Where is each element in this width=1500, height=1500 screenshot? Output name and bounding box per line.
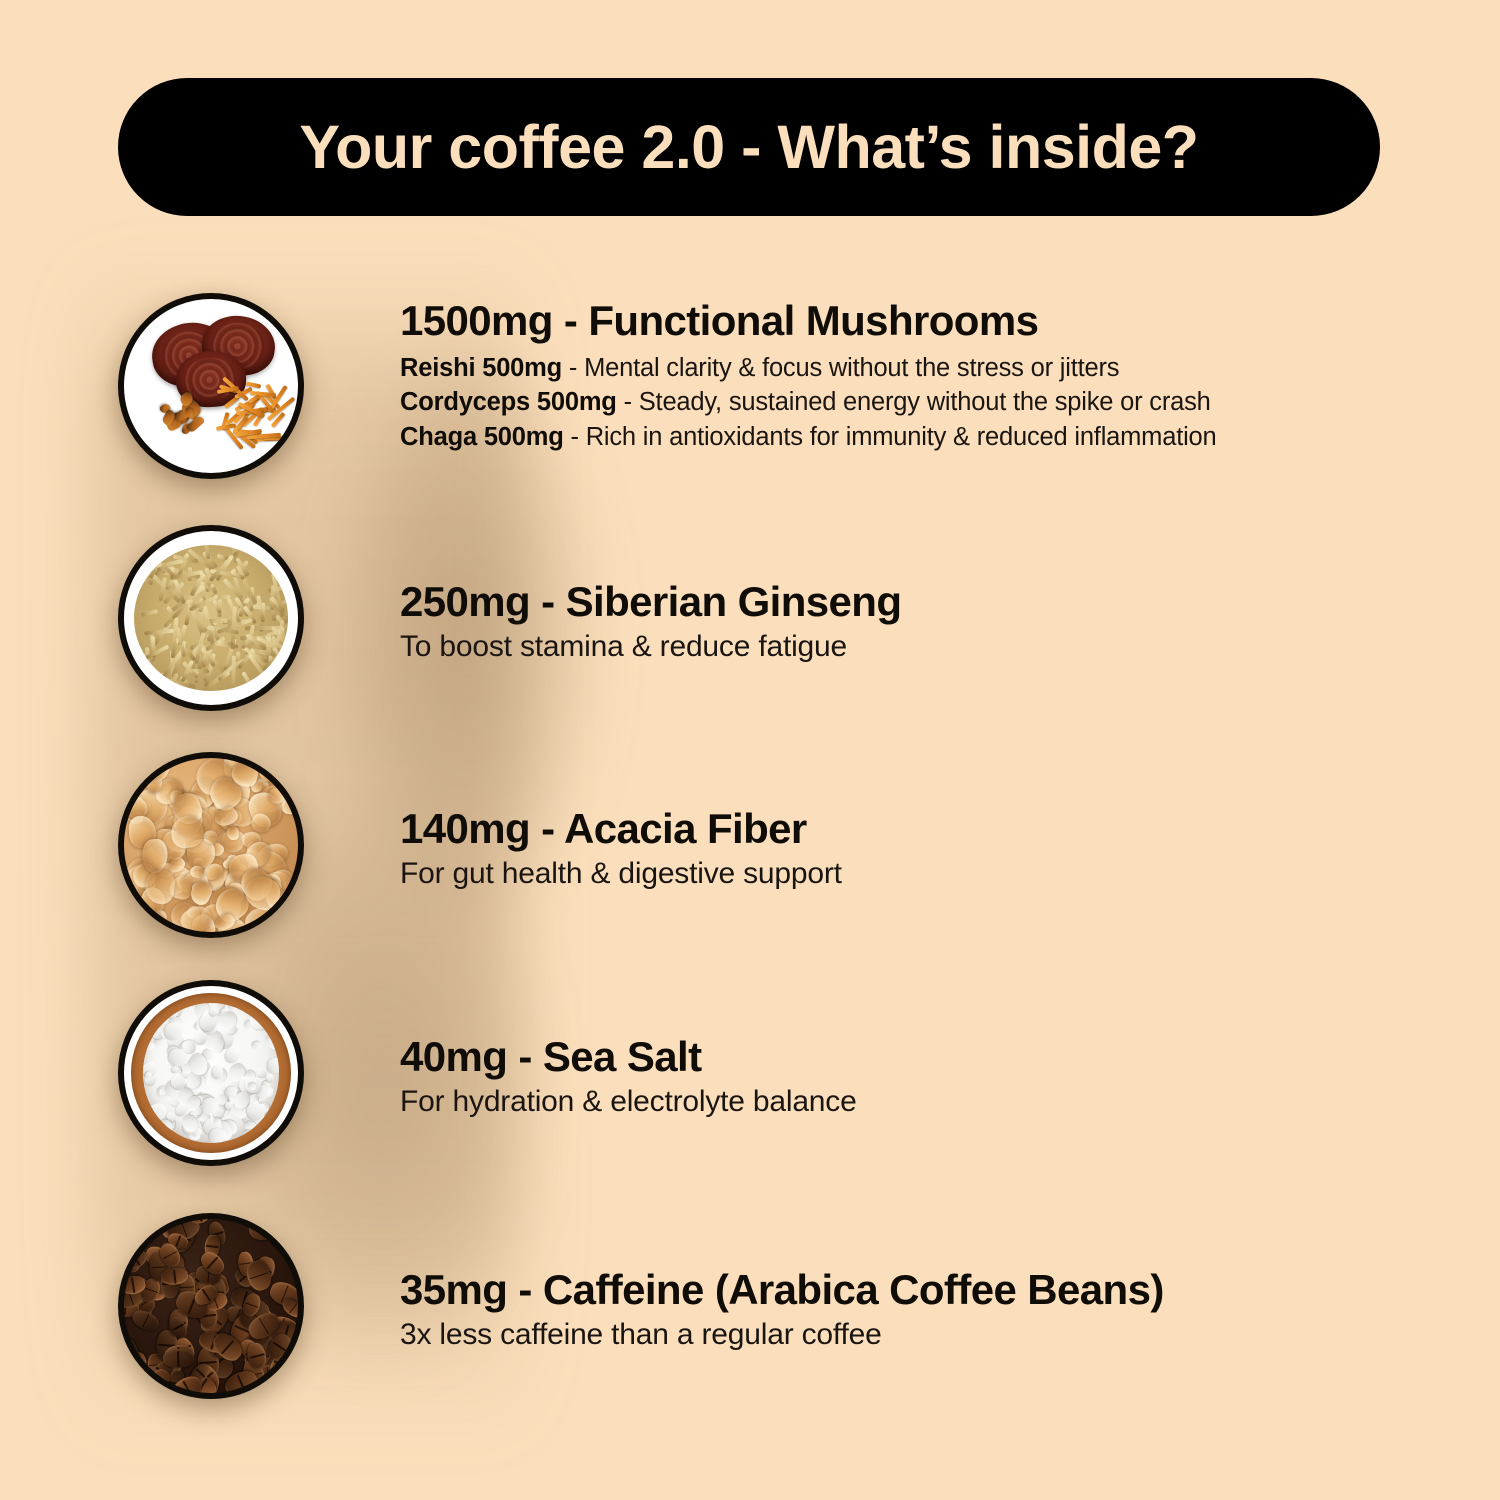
ingredient-subtitle: For gut health & digestive support xyxy=(400,854,1410,893)
sea-salt-image xyxy=(118,980,304,1166)
ingredient-row-sea-salt: 40mg - Sea Salt For hydration & electrol… xyxy=(118,980,1418,1168)
ingredient-row-caffeine: 35mg - Caffeine (Arabica Coffee Beans) 3… xyxy=(118,1213,1418,1401)
ingredient-title: 250mg - Siberian Ginseng xyxy=(400,577,1410,627)
acacia-fiber-image xyxy=(118,752,304,938)
ingredient-title: 35mg - Caffeine (Arabica Coffee Beans) xyxy=(400,1265,1410,1315)
ingredient-title: 40mg - Sea Salt xyxy=(400,1032,1410,1082)
ingredient-row-ginseng: 250mg - Siberian Ginseng To boost stamin… xyxy=(118,525,1418,713)
detail-separator: - xyxy=(562,354,584,382)
detail-separator: - xyxy=(564,423,586,451)
ingredient-row-acacia-fiber: 140mg - Acacia Fiber For gut health & di… xyxy=(118,752,1418,940)
detail-text: Steady, sustained energy without the spi… xyxy=(639,388,1211,416)
ingredient-detail-list: Reishi 500mg - Mental clarity & focus wi… xyxy=(400,351,1410,455)
ingredient-list: 1500mg - Functional Mushrooms Reishi 500… xyxy=(0,0,1500,1500)
ingredient-subtitle: 3x less caffeine than a regular coffee xyxy=(400,1315,1410,1354)
detail-name: Cordyceps 500mg xyxy=(400,388,617,416)
siberian-ginseng-image xyxy=(118,525,304,711)
ingredient-title: 1500mg - Functional Mushrooms xyxy=(400,296,1410,346)
detail-separator: - xyxy=(617,388,639,416)
ingredient-subtitle: To boost stamina & reduce fatigue xyxy=(400,627,1410,666)
ingredient-detail-chaga: Chaga 500mg - Rich in antioxidants for i… xyxy=(400,420,1410,455)
ingredient-detail-reishi: Reishi 500mg - Mental clarity & focus wi… xyxy=(400,351,1410,386)
ingredient-row-mushrooms: 1500mg - Functional Mushrooms Reishi 500… xyxy=(118,293,1418,481)
detail-name: Reishi 500mg xyxy=(400,354,562,382)
functional-mushrooms-image xyxy=(118,293,304,479)
ingredient-title: 140mg - Acacia Fiber xyxy=(400,804,1410,854)
ingredient-subtitle: For hydration & electrolyte balance xyxy=(400,1082,1410,1121)
arabica-coffee-beans-image xyxy=(118,1213,304,1399)
detail-name: Chaga 500mg xyxy=(400,423,564,451)
detail-text: Mental clarity & focus without the stres… xyxy=(584,354,1119,382)
ingredient-detail-cordyceps: Cordyceps 500mg - Steady, sustained ener… xyxy=(400,385,1410,420)
detail-text: Rich in antioxidants for immunity & redu… xyxy=(586,423,1217,451)
